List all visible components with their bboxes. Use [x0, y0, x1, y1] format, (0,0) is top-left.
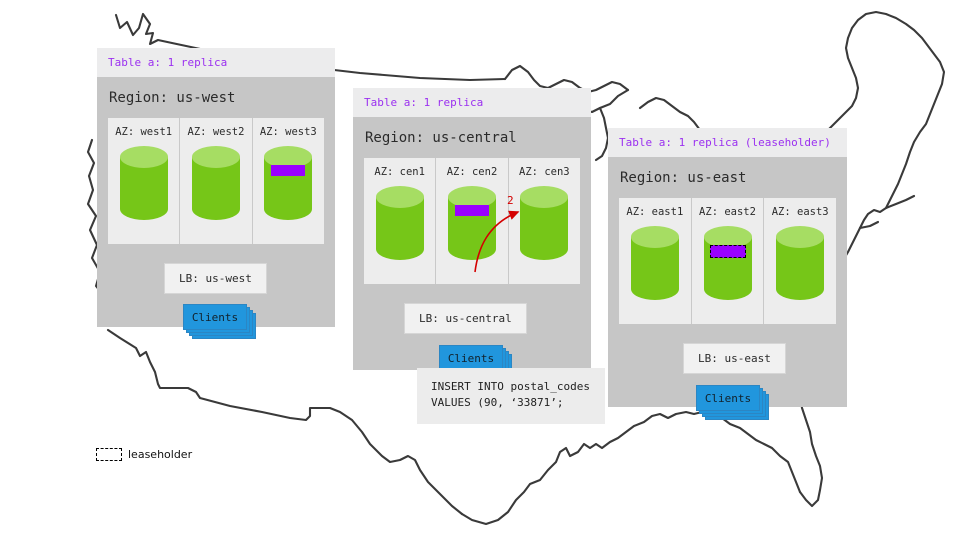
- az-label-west1: AZ: west1: [108, 126, 179, 138]
- replica-badge-west3: [271, 165, 305, 176]
- region-label-us-east: Region: us-east: [608, 157, 847, 198]
- region-panel-us-east: Table a: 1 replica (leaseholder) Region:…: [608, 128, 847, 407]
- cylinder-east3: [774, 225, 826, 305]
- diagram-stage: Table a: 1 replica Region: us-west AZ: w…: [0, 0, 960, 540]
- cylinder-cen2: [446, 185, 498, 265]
- legend-label: leaseholder: [128, 448, 192, 461]
- az-strip-us-central: AZ: cen1 AZ: cen2: [364, 158, 580, 284]
- region-panel-us-west: Table a: 1 replica Region: us-west AZ: w…: [97, 48, 335, 327]
- panel-title-us-central: Table a: 1 replica: [353, 88, 591, 117]
- region-label-us-central: Region: us-central: [353, 117, 591, 158]
- region-panel-us-central: Table a: 1 replica Region: us-central AZ…: [353, 88, 591, 370]
- cylinder-cen1: [374, 185, 426, 265]
- step-number-2: 2: [507, 194, 514, 207]
- panel-body-us-west: Region: us-west AZ: west1 AZ: west2: [97, 77, 335, 327]
- clients-label-us-west: Clients: [183, 304, 247, 330]
- cylinder-west1: [118, 145, 170, 225]
- database-cylinder-icon: [629, 225, 681, 301]
- load-balancer-us-central[interactable]: LB: us-central: [404, 303, 527, 334]
- az-cell-east1[interactable]: AZ: east1: [619, 198, 691, 324]
- database-cylinder-icon: [374, 185, 426, 261]
- az-label-east3: AZ: east3: [764, 206, 836, 218]
- database-cylinder-icon: [518, 185, 570, 261]
- cylinder-east2: [702, 225, 754, 305]
- cylinder-west3: [262, 145, 314, 225]
- database-cylinder-icon: [118, 145, 170, 221]
- az-label-cen2: AZ: cen2: [436, 166, 507, 178]
- az-cell-west1[interactable]: AZ: west1: [108, 118, 179, 244]
- database-cylinder-icon: [774, 225, 826, 301]
- database-cylinder-icon: [702, 225, 754, 301]
- legend-leaseholder: leaseholder: [96, 448, 192, 461]
- panel-body-us-east: Region: us-east AZ: east1 AZ: east2: [608, 157, 847, 407]
- cylinder-west2: [190, 145, 242, 225]
- az-cell-east3[interactable]: AZ: east3: [763, 198, 836, 324]
- az-label-cen1: AZ: cen1: [364, 166, 435, 178]
- clients-us-east[interactable]: Clients: [696, 385, 760, 411]
- az-label-east1: AZ: east1: [619, 206, 691, 218]
- az-cell-cen1[interactable]: AZ: cen1: [364, 158, 435, 284]
- panel-title-us-east: Table a: 1 replica (leaseholder): [608, 128, 847, 157]
- replica-badge-leaseholder-east2: [710, 245, 746, 258]
- az-strip-us-west: AZ: west1 AZ: west2: [108, 118, 324, 244]
- az-cell-west3[interactable]: AZ: west3: [252, 118, 324, 244]
- load-balancer-us-west[interactable]: LB: us-west: [164, 263, 267, 294]
- az-cell-west2[interactable]: AZ: west2: [179, 118, 251, 244]
- database-cylinder-icon: [446, 185, 498, 261]
- panel-body-us-central: Region: us-central AZ: cen1 AZ: cen2: [353, 117, 591, 370]
- clients-us-west[interactable]: Clients: [183, 304, 247, 330]
- az-label-west2: AZ: west2: [180, 126, 251, 138]
- az-cell-east2[interactable]: AZ: east2: [691, 198, 764, 324]
- load-balancer-us-east[interactable]: LB: us-east: [683, 343, 786, 374]
- sql-statement-box: INSERT INTO postal_codes VALUES (90, ‘33…: [417, 368, 605, 424]
- cylinder-cen3: [518, 185, 570, 265]
- database-cylinder-icon: [190, 145, 242, 221]
- az-label-cen3: AZ: cen3: [509, 166, 580, 178]
- region-label-us-west: Region: us-west: [97, 77, 335, 118]
- database-cylinder-icon: [262, 145, 314, 221]
- az-label-east2: AZ: east2: [692, 206, 764, 218]
- az-cell-cen3[interactable]: AZ: cen3: [508, 158, 580, 284]
- az-strip-us-east: AZ: east1 AZ: east2: [619, 198, 836, 324]
- az-cell-cen2[interactable]: AZ: cen2: [435, 158, 507, 284]
- replica-badge-cen2: [455, 205, 489, 216]
- az-label-west3: AZ: west3: [253, 126, 324, 138]
- cylinder-east1: [629, 225, 681, 305]
- clients-label-us-east: Clients: [696, 385, 760, 411]
- dashed-rect-icon: [96, 448, 122, 461]
- panel-title-us-west: Table a: 1 replica: [97, 48, 335, 77]
